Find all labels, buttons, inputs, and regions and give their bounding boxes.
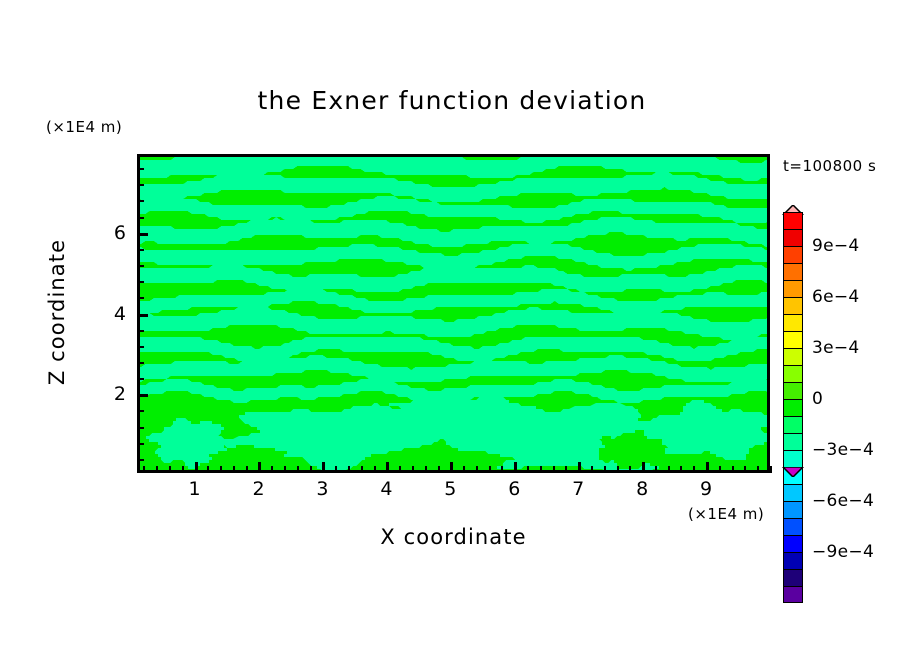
colorbar-bottom-arrow-icon bbox=[777, 467, 809, 477]
colorbar-band[interactable] bbox=[783, 331, 803, 348]
x-minor-tick bbox=[348, 466, 350, 473]
y-minor-tick bbox=[137, 265, 144, 267]
y-minor-tick bbox=[137, 330, 144, 332]
x-minor-tick bbox=[425, 466, 427, 473]
x-major-tick bbox=[514, 462, 517, 473]
x-minor-tick bbox=[565, 466, 567, 473]
y-minor-tick bbox=[137, 378, 144, 380]
colorbar-band[interactable] bbox=[783, 535, 803, 552]
colorbar-tick-label: 0 bbox=[812, 389, 823, 409]
colorbar-tick-label: 6e−4 bbox=[812, 287, 860, 307]
colorbar[interactable] bbox=[783, 212, 803, 603]
x-minor-tick bbox=[233, 466, 235, 473]
x-minor-tick bbox=[668, 466, 670, 473]
y-minor-tick bbox=[137, 362, 144, 364]
y-minor-tick bbox=[137, 297, 144, 299]
x-major-tick bbox=[322, 462, 325, 473]
y-minor-tick bbox=[137, 281, 144, 283]
y-minor-tick bbox=[137, 346, 144, 348]
x-axis-unit-label: (×1E4 m) bbox=[688, 505, 764, 523]
x-minor-tick bbox=[156, 466, 158, 473]
colorbar-band[interactable] bbox=[783, 484, 803, 501]
y-minor-tick bbox=[137, 410, 144, 412]
x-minor-tick bbox=[489, 466, 491, 473]
y-tick-label: 4 bbox=[100, 303, 126, 325]
x-minor-tick bbox=[246, 466, 248, 473]
x-minor-tick bbox=[463, 466, 465, 473]
colorbar-band[interactable] bbox=[783, 552, 803, 569]
x-tick-label: 3 bbox=[316, 478, 328, 500]
y-tick-label: 2 bbox=[100, 383, 126, 405]
x-major-tick bbox=[450, 462, 453, 473]
x-minor-tick bbox=[693, 466, 695, 473]
x-minor-tick bbox=[143, 466, 145, 473]
colorbar-tick-label: −9e−4 bbox=[812, 542, 874, 562]
x-tick-label: 7 bbox=[572, 478, 584, 500]
colorbar-band[interactable] bbox=[783, 263, 803, 280]
x-minor-tick bbox=[617, 466, 619, 473]
x-minor-tick bbox=[732, 466, 734, 473]
colorbar-tick-label: 9e−4 bbox=[812, 236, 860, 256]
y-major-tick bbox=[137, 233, 148, 236]
x-tick-label: 9 bbox=[700, 478, 712, 500]
y-axis-title: Z coordinate bbox=[45, 222, 69, 402]
x-minor-tick bbox=[680, 466, 682, 473]
x-minor-tick bbox=[374, 466, 376, 473]
colorbar-band[interactable] bbox=[783, 518, 803, 535]
contour-plot-area bbox=[137, 154, 770, 473]
y-minor-tick bbox=[137, 249, 144, 251]
x-tick-label: 4 bbox=[380, 478, 392, 500]
colorbar-band[interactable] bbox=[783, 416, 803, 433]
x-minor-tick bbox=[719, 466, 721, 473]
colorbar-tick-label: −3e−4 bbox=[812, 440, 874, 460]
x-minor-tick bbox=[629, 466, 631, 473]
colorbar-band[interactable] bbox=[783, 433, 803, 450]
y-major-tick bbox=[137, 314, 148, 317]
x-major-tick bbox=[642, 462, 645, 473]
colorbar-band[interactable] bbox=[783, 314, 803, 331]
x-minor-tick bbox=[220, 466, 222, 473]
x-minor-tick bbox=[182, 466, 184, 473]
colorbar-band[interactable] bbox=[783, 280, 803, 297]
x-minor-tick bbox=[284, 466, 286, 473]
x-tick-label: 2 bbox=[252, 478, 264, 500]
colorbar-band[interactable] bbox=[783, 586, 803, 603]
y-minor-tick bbox=[137, 168, 144, 170]
contour-field bbox=[137, 154, 770, 473]
y-axis-unit-label: (×1E4 m) bbox=[46, 118, 122, 136]
x-minor-tick bbox=[412, 466, 414, 473]
x-minor-tick bbox=[527, 466, 529, 473]
x-minor-tick bbox=[501, 466, 503, 473]
x-axis-title: X coordinate bbox=[137, 525, 770, 549]
x-major-tick bbox=[195, 462, 198, 473]
x-major-tick bbox=[706, 462, 709, 473]
y-minor-tick bbox=[137, 184, 144, 186]
colorbar-tick-label: 3e−4 bbox=[812, 338, 860, 358]
x-major-tick bbox=[258, 462, 261, 473]
y-minor-tick bbox=[137, 443, 144, 445]
x-minor-tick bbox=[399, 466, 401, 473]
y-minor-tick bbox=[137, 200, 144, 202]
y-tick-label: 6 bbox=[100, 222, 126, 244]
x-minor-tick bbox=[438, 466, 440, 473]
y-minor-tick bbox=[137, 217, 144, 219]
y-minor-tick bbox=[137, 459, 144, 461]
colorbar-band[interactable] bbox=[783, 212, 803, 229]
colorbar-band[interactable] bbox=[783, 297, 803, 314]
x-major-tick bbox=[386, 462, 389, 473]
x-tick-label: 5 bbox=[444, 478, 456, 500]
colorbar-band[interactable] bbox=[783, 501, 803, 518]
colorbar-band[interactable] bbox=[783, 365, 803, 382]
x-minor-tick bbox=[361, 466, 363, 473]
x-major-tick bbox=[578, 462, 581, 473]
x-minor-tick bbox=[604, 466, 606, 473]
x-minor-tick bbox=[207, 466, 209, 473]
x-minor-tick bbox=[553, 466, 555, 473]
x-minor-tick bbox=[591, 466, 593, 473]
y-minor-tick bbox=[137, 427, 144, 429]
colorbar-band[interactable] bbox=[783, 382, 803, 399]
x-minor-tick bbox=[744, 466, 746, 473]
time-annotation: t=100800 s bbox=[783, 157, 876, 175]
colorbar-band[interactable] bbox=[783, 399, 803, 416]
x-tick-label: 8 bbox=[636, 478, 648, 500]
x-minor-tick bbox=[476, 466, 478, 473]
y-major-tick bbox=[137, 394, 148, 397]
x-minor-tick bbox=[271, 466, 273, 473]
x-minor-tick bbox=[770, 466, 772, 473]
colorbar-band[interactable] bbox=[783, 450, 803, 467]
x-minor-tick bbox=[757, 466, 759, 473]
colorbar-band[interactable] bbox=[783, 246, 803, 263]
x-minor-tick bbox=[655, 466, 657, 473]
chart-title: the Exner function deviation bbox=[0, 86, 904, 115]
x-minor-tick bbox=[169, 466, 171, 473]
x-tick-label: 1 bbox=[188, 478, 200, 500]
colorbar-tick-label: −6e−4 bbox=[812, 491, 874, 511]
colorbar-band[interactable] bbox=[783, 229, 803, 246]
colorbar-band[interactable] bbox=[783, 348, 803, 365]
x-tick-label: 6 bbox=[508, 478, 520, 500]
x-minor-tick bbox=[335, 466, 337, 473]
x-minor-tick bbox=[540, 466, 542, 473]
x-minor-tick bbox=[310, 466, 312, 473]
colorbar-band[interactable] bbox=[783, 569, 803, 586]
x-minor-tick bbox=[297, 466, 299, 473]
